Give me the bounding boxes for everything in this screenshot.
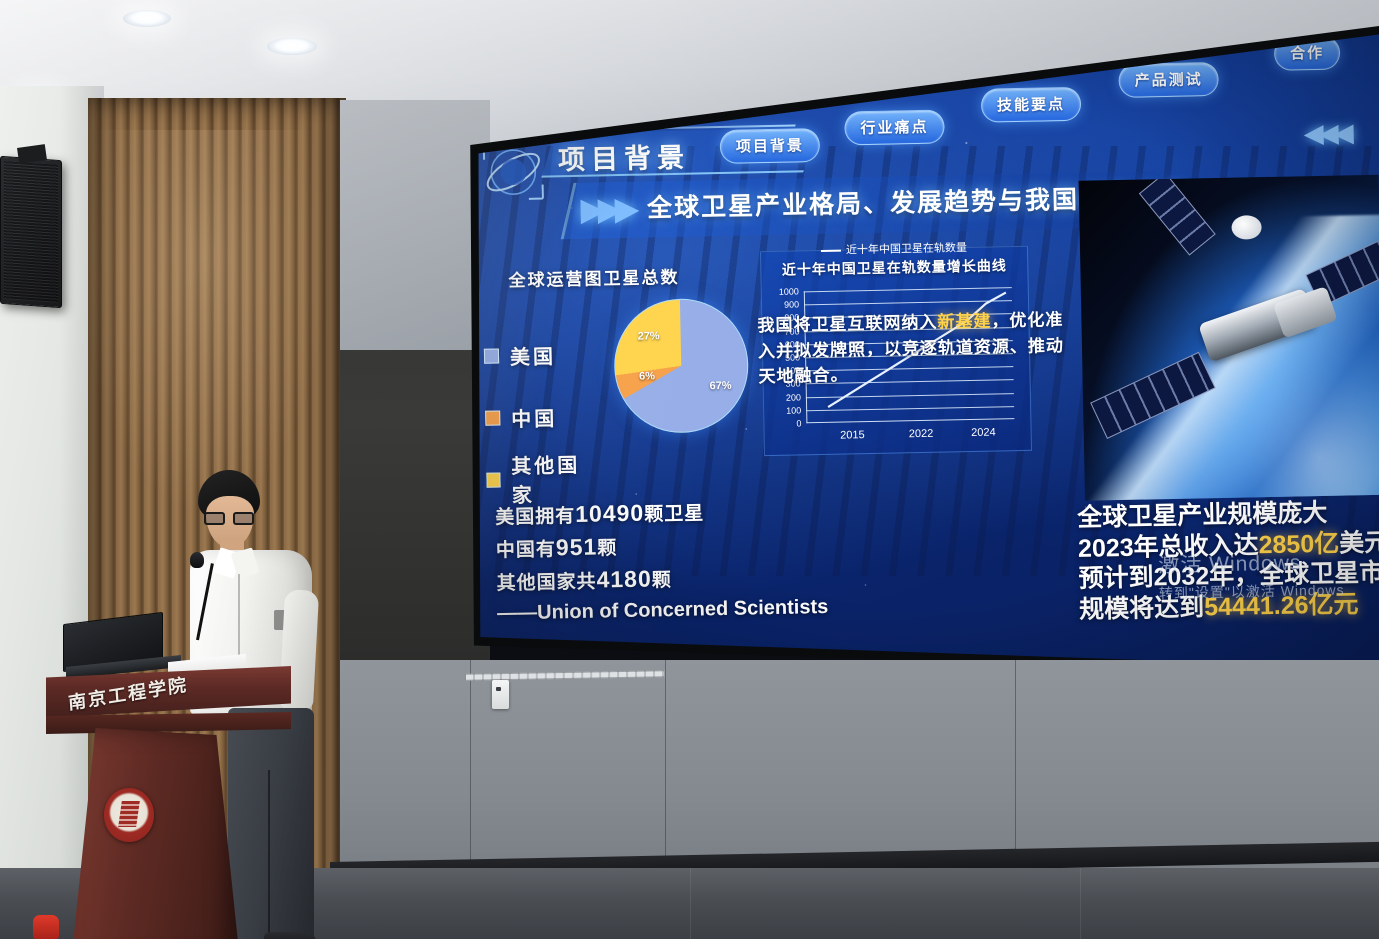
- pie-chart-title: 全球运营图卫星总数: [508, 263, 679, 291]
- stat-prefix: 中国有: [496, 539, 556, 561]
- legend-line-swatch: [821, 250, 841, 252]
- downlight-icon: [123, 10, 171, 27]
- wall-panel-seam: [665, 660, 666, 880]
- y-axis-tick: 900: [784, 300, 799, 310]
- pie-slice-label-us: 67%: [709, 380, 731, 392]
- policy-paragraph: 我国将卫星互联网纳入新基建，优化准入并拟发牌照，以竞逐轨道资源、推动天地融合。: [757, 307, 1078, 390]
- legend-label-cn: 中国: [511, 402, 558, 432]
- glasses-lens-right: [233, 512, 254, 525]
- stat-suffix: 颗: [597, 538, 617, 559]
- wall-panel-seam: [470, 660, 471, 880]
- market-size-text: 全球卫星产业规模庞大 2023年总收入达2850亿美元， 预计到2032年，全球…: [1077, 497, 1379, 625]
- wall-panel-seam: [1015, 660, 1016, 880]
- x-axis-tick: 2024: [971, 427, 996, 439]
- legend-item-cn: 中国: [485, 385, 596, 449]
- fire-extinguisher-icon: [33, 915, 59, 939]
- legend-line-label: 近十年中国卫星在轨数量: [846, 242, 967, 256]
- pie-slice-label-other: 27%: [638, 330, 660, 342]
- satellite-count-stats: 美国拥有10490颗卫星 中国有951颗 其他国家共4180颗: [495, 498, 706, 601]
- wall-speaker: [0, 156, 62, 308]
- section-label: 项目背景: [558, 136, 691, 178]
- stat-suffix: 颗: [652, 570, 672, 591]
- stat-prefix: 其他国家共: [496, 572, 596, 595]
- gray-wall-upper: [340, 100, 490, 350]
- chevron-left-icon: ◀◀◀: [1303, 117, 1349, 149]
- stat-value: 4180: [596, 565, 652, 592]
- legend-swatch-other: [486, 472, 500, 487]
- market-scale-line: 规模将达到54441.26亿元: [1079, 588, 1379, 625]
- downlight-icon: [267, 38, 317, 55]
- stat-row: 其他国家共4180颗: [496, 564, 705, 595]
- chevron-right-icon: ▶▶▶: [581, 192, 633, 228]
- revenue-prefix: 2023年总收入达: [1078, 531, 1259, 563]
- speaker-grill: [4, 161, 58, 303]
- x-axis-tick: 2022: [909, 428, 934, 440]
- stat-prefix: 美国拥有: [495, 506, 575, 529]
- x-axis-tick: 2015: [840, 429, 865, 441]
- floor-tile-seam: [1080, 868, 1081, 939]
- stat-row: 美国拥有10490颗卫星: [495, 498, 704, 529]
- podium-body: [72, 728, 240, 939]
- wall-sensor-device[interactable]: [492, 680, 509, 709]
- tab-chanpin-ceshi[interactable]: 产品测试: [1118, 62, 1219, 98]
- floor-tile-seam: [690, 868, 691, 939]
- podium: 南京工程学院: [46, 628, 291, 939]
- legend-label-other: 其他国家: [511, 449, 597, 509]
- revenue-suffix: 美元，: [1339, 528, 1379, 557]
- glasses-lens-left: [204, 512, 225, 525]
- lecture-hall-photo: 项目背景 项目背景 行业痛点 技能要点 产品测试 合作 ◀◀◀ ▶▶▶ 全球卫星…: [0, 0, 1379, 939]
- y-axis-tick: 100: [786, 405, 801, 415]
- policy-text-part1: 我国将卫星互联网纳入: [757, 313, 937, 336]
- policy-highlight: 新基建: [937, 312, 991, 332]
- legend-label-us: 美国: [510, 340, 557, 370]
- microphone-icon: [190, 552, 204, 568]
- tab-jineng-yaodian[interactable]: 技能要点: [981, 87, 1082, 123]
- scale-amount: 54441.26亿元: [1204, 590, 1359, 621]
- stat-value: 951: [556, 534, 598, 561]
- pie-slice-label-cn: 6%: [639, 370, 655, 382]
- legend-swatch-cn: [485, 410, 500, 425]
- glasses-icon: [204, 512, 256, 525]
- stat-suffix: 颗卫星: [644, 503, 704, 525]
- legend-swatch-us: [484, 348, 499, 363]
- y-axis-tick: 1000: [779, 286, 799, 296]
- legend-item-us: 美国: [483, 323, 594, 387]
- scale-prefix: 规模将达到: [1079, 593, 1205, 624]
- earth-limb: [1079, 213, 1379, 501]
- stat-row: 中国有951颗: [496, 531, 705, 562]
- pie-chart: [613, 297, 750, 434]
- y-axis-tick: 200: [786, 392, 801, 402]
- y-axis-tick: 0: [796, 418, 801, 428]
- stat-value: 10490: [575, 500, 644, 527]
- satellite-photo: [1079, 175, 1379, 501]
- pie-chart-legend: 美国 中国 其他国家: [483, 323, 597, 511]
- tab-hangye-tongdian[interactable]: 行业痛点: [844, 109, 945, 145]
- university-emblem-icon: [104, 788, 154, 842]
- revenue-amount: 2850亿: [1258, 529, 1339, 559]
- line-chart-title: 近十年中国卫星在轨数量增长曲线: [761, 255, 1027, 280]
- tab-xiangmu-beijing[interactable]: 项目背景: [720, 128, 821, 164]
